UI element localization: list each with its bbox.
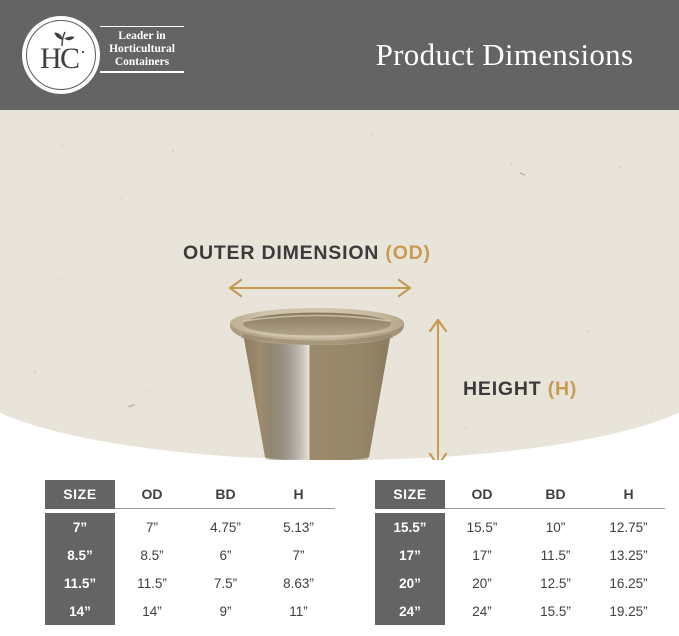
dimension-tables: SIZE OD BD H 7” 7” 4.75” 5.13” [0,460,679,636]
cell-size: 15.5” [375,513,445,541]
height-double-arrow-icon [427,315,449,460]
header-bar: H C Leader in Horticultural Containers P… [0,0,679,110]
table-row: 20” 20” 12.5” 16.25” [375,569,665,597]
cell-h: 5.13” [262,513,335,541]
header-h: H [592,480,665,509]
cell-od: 8.5” [115,541,189,569]
height-tag: (H) [548,378,577,400]
header-h: H [262,480,335,509]
cell-od: 11.5” [115,569,189,597]
cell-size: 20” [375,569,445,597]
tagline-rule-bottom [100,71,184,72]
table-row: 7” 7” 4.75” 5.13” [45,513,335,541]
brand-tagline: Leader in Horticultural Containers [98,27,186,71]
cell-bd: 15.5” [519,597,592,625]
cell-h: 7” [262,541,335,569]
cell-bd: 12.5” [519,569,592,597]
cell-h: 19.25” [592,597,665,625]
cell-size: 14” [45,597,115,625]
header-od: OD [115,480,189,509]
logo-hc-monogram-icon: H C [22,16,100,94]
outer-dimension-text: OUTER DIMENSION [183,242,385,264]
cell-bd: 7.5” [189,569,262,597]
cell-od: 20” [445,569,519,597]
page-title: Product Dimensions [330,0,679,110]
od-double-arrow-icon [225,277,415,299]
small-sizes-table: SIZE OD BD H 7” 7” 4.75” 5.13” [45,480,335,625]
large-sizes-table: SIZE OD BD H 15.5” 15.5” 10” 12.75” [375,480,665,625]
illustration-panel: OUTER DIMENSION (OD) HEIGHT (H) BASE DIM… [0,110,679,460]
header-bd: BD [519,480,592,509]
cell-od: 15.5” [445,513,519,541]
cell-bd: 6” [189,541,262,569]
cell-od: 24” [445,597,519,625]
table-row: 17” 17” 11.5” 13.25” [375,541,665,569]
cell-bd: 9” [189,597,262,625]
cell-h: 8.63” [262,569,335,597]
header-size: SIZE [45,480,115,509]
height-label: HEIGHT (H) [463,378,577,401]
outer-dimension-tag: (OD) [385,242,430,264]
cell-h: 13.25” [592,541,665,569]
table-row: 14” 14” 9” 11” [45,597,335,625]
table-header-row: SIZE OD BD H [45,480,335,509]
cell-bd: 10” [519,513,592,541]
table-header-row: SIZE OD BD H [375,480,665,509]
cell-size: 7” [45,513,115,541]
table-row: 8.5” 8.5” 6” 7” [45,541,335,569]
height-text: HEIGHT [463,378,548,400]
cell-size: 8.5” [45,541,115,569]
brand-logo: H C [22,16,102,96]
header-od: OD [445,480,519,509]
cell-bd: 4.75” [189,513,262,541]
header-bd: BD [189,480,262,509]
cell-od: 7” [115,513,189,541]
svg-text:H: H [40,42,62,75]
product-dimensions-infographic: H C Leader in Horticultural Containers P… [0,0,679,636]
table-row: 24” 24” 15.5” 19.25” [375,597,665,625]
cell-h: 16.25” [592,569,665,597]
cell-size: 11.5” [45,569,115,597]
table-row: 11.5” 11.5” 7.5” 8.63” [45,569,335,597]
header-size: SIZE [375,480,445,509]
cell-bd: 11.5” [519,541,592,569]
brand-tagline-block: Leader in Horticultural Containers [98,26,186,73]
cell-size: 24” [375,597,445,625]
cell-od: 17” [445,541,519,569]
cell-od: 14” [115,597,189,625]
cell-h: 11” [262,597,335,625]
svg-text:C: C [60,42,80,75]
cell-size: 17” [375,541,445,569]
outer-dimension-label: OUTER DIMENSION (OD) [183,242,431,265]
plant-pot-illustration [222,307,412,460]
table-row: 15.5” 15.5” 10” 12.75” [375,513,665,541]
cell-h: 12.75” [592,513,665,541]
